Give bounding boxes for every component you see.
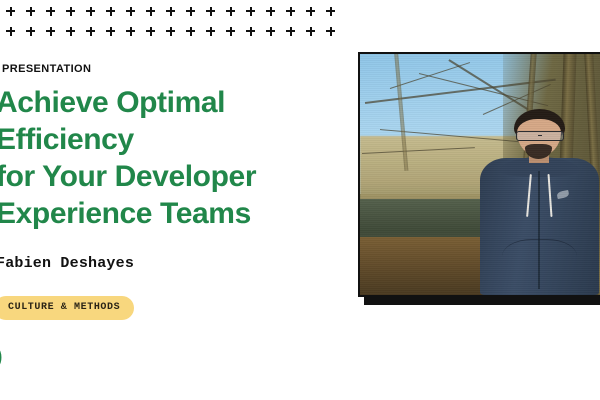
plus-icon — [126, 26, 146, 46]
photo-person — [473, 109, 600, 295]
content-type-label: PRESENTATION — [2, 62, 360, 76]
plus-icon — [286, 26, 306, 46]
plus-icon — [266, 6, 286, 26]
plus-icon — [126, 6, 146, 26]
plus-icon — [26, 26, 46, 46]
hoodie-pocket — [502, 239, 576, 264]
card-content: PRESENTATION Achieve Optimal Efficiency … — [0, 62, 360, 320]
plus-icon — [186, 26, 206, 46]
topic-badge[interactable]: CULTURE & METHODS — [0, 296, 134, 320]
plus-icon — [86, 6, 106, 26]
speaker-name: Fabien Deshayes — [0, 254, 360, 274]
plus-icon — [286, 6, 306, 26]
plus-icon — [226, 26, 246, 46]
plus-icon — [206, 26, 226, 46]
plus-icon — [306, 26, 326, 46]
plus-icon — [326, 26, 346, 46]
plus-icon — [146, 26, 166, 46]
plus-icon — [46, 26, 66, 46]
presentation-card: PRESENTATION Achieve Optimal Efficiency … — [0, 0, 600, 400]
plus-icon — [206, 6, 226, 26]
plus-grid-decoration — [6, 6, 336, 44]
page-title[interactable]: Achieve Optimal Efficiency for Your Deve… — [0, 84, 360, 232]
infoq-logo[interactable]: Q — [0, 338, 2, 378]
plus-icon — [266, 26, 286, 46]
plus-icon — [306, 6, 326, 26]
plus-icon — [66, 26, 86, 46]
plus-icon — [106, 6, 126, 26]
speaker-photo — [360, 54, 600, 295]
plus-icon — [66, 6, 86, 26]
plus-icon — [86, 26, 106, 46]
plus-icon — [326, 6, 346, 26]
hoodie-zipper — [538, 171, 540, 290]
plus-icon — [146, 6, 166, 26]
glasses-icon — [516, 131, 564, 142]
plus-icon — [46, 6, 66, 26]
plus-icon — [166, 6, 186, 26]
plus-icon — [26, 6, 46, 26]
plus-icon — [226, 6, 246, 26]
plus-icon — [186, 6, 206, 26]
plus-icon — [166, 26, 186, 46]
plus-icon — [246, 6, 266, 26]
plus-icon — [6, 26, 26, 46]
plus-icon — [106, 26, 126, 46]
speaker-photo-frame — [358, 52, 600, 297]
plus-icon — [246, 26, 266, 46]
plus-icon — [6, 6, 26, 26]
